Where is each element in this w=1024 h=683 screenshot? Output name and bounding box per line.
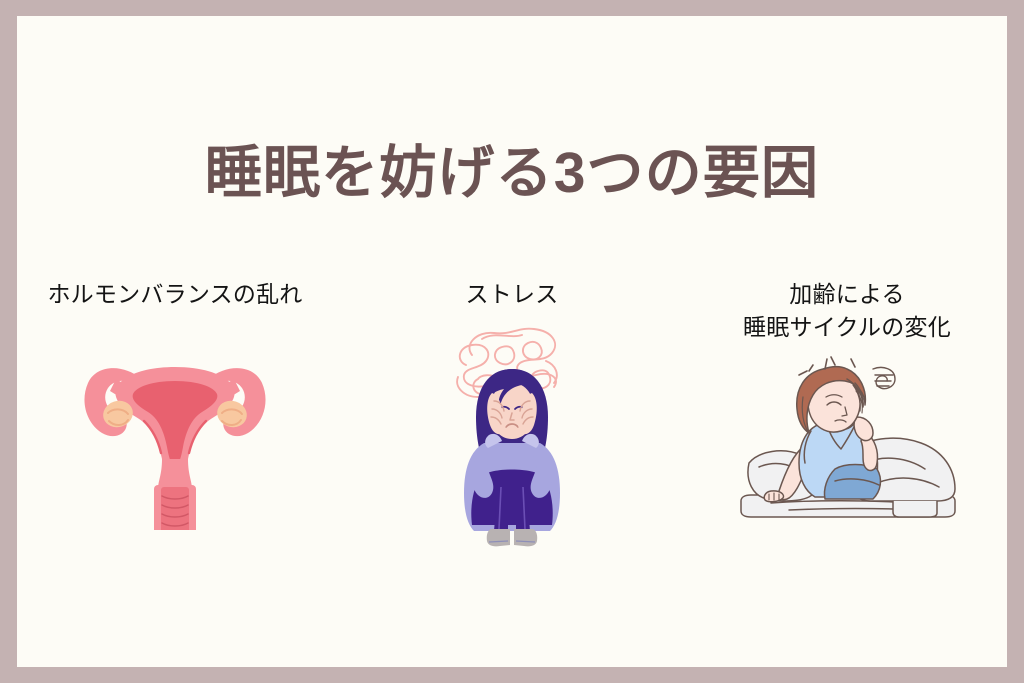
- tired-woman-in-bed-illustration: [731, 351, 963, 536]
- infographic-canvas: 睡眠を妨げる3つの要因 ホルモンバランスの乱れ: [17, 16, 1007, 667]
- stressed-woman-illustration: [442, 317, 582, 554]
- factor-item-hormone: ホルモンバランスの乱れ: [25, 278, 325, 535]
- dizzy-spiral-icon: [873, 368, 895, 389]
- factor-label-aging: 加齢による 睡眠サイクルの変化: [743, 278, 951, 343]
- uterus-illustration: [70, 335, 280, 535]
- infographic-frame: 睡眠を妨げる3つの要因 ホルモンバランスの乱れ: [0, 0, 1024, 683]
- factor-item-stress: ストレス: [362, 278, 662, 554]
- factor-item-aging: 加齢による 睡眠サイクルの変化: [697, 278, 997, 536]
- page-title: 睡眠を妨げる3つの要因: [17, 140, 1007, 207]
- factor-list: ホルモンバランスの乱れ: [17, 278, 1007, 588]
- factor-label-stress: ストレス: [466, 278, 559, 311]
- factor-label-hormone: ホルモンバランスの乱れ: [47, 278, 302, 311]
